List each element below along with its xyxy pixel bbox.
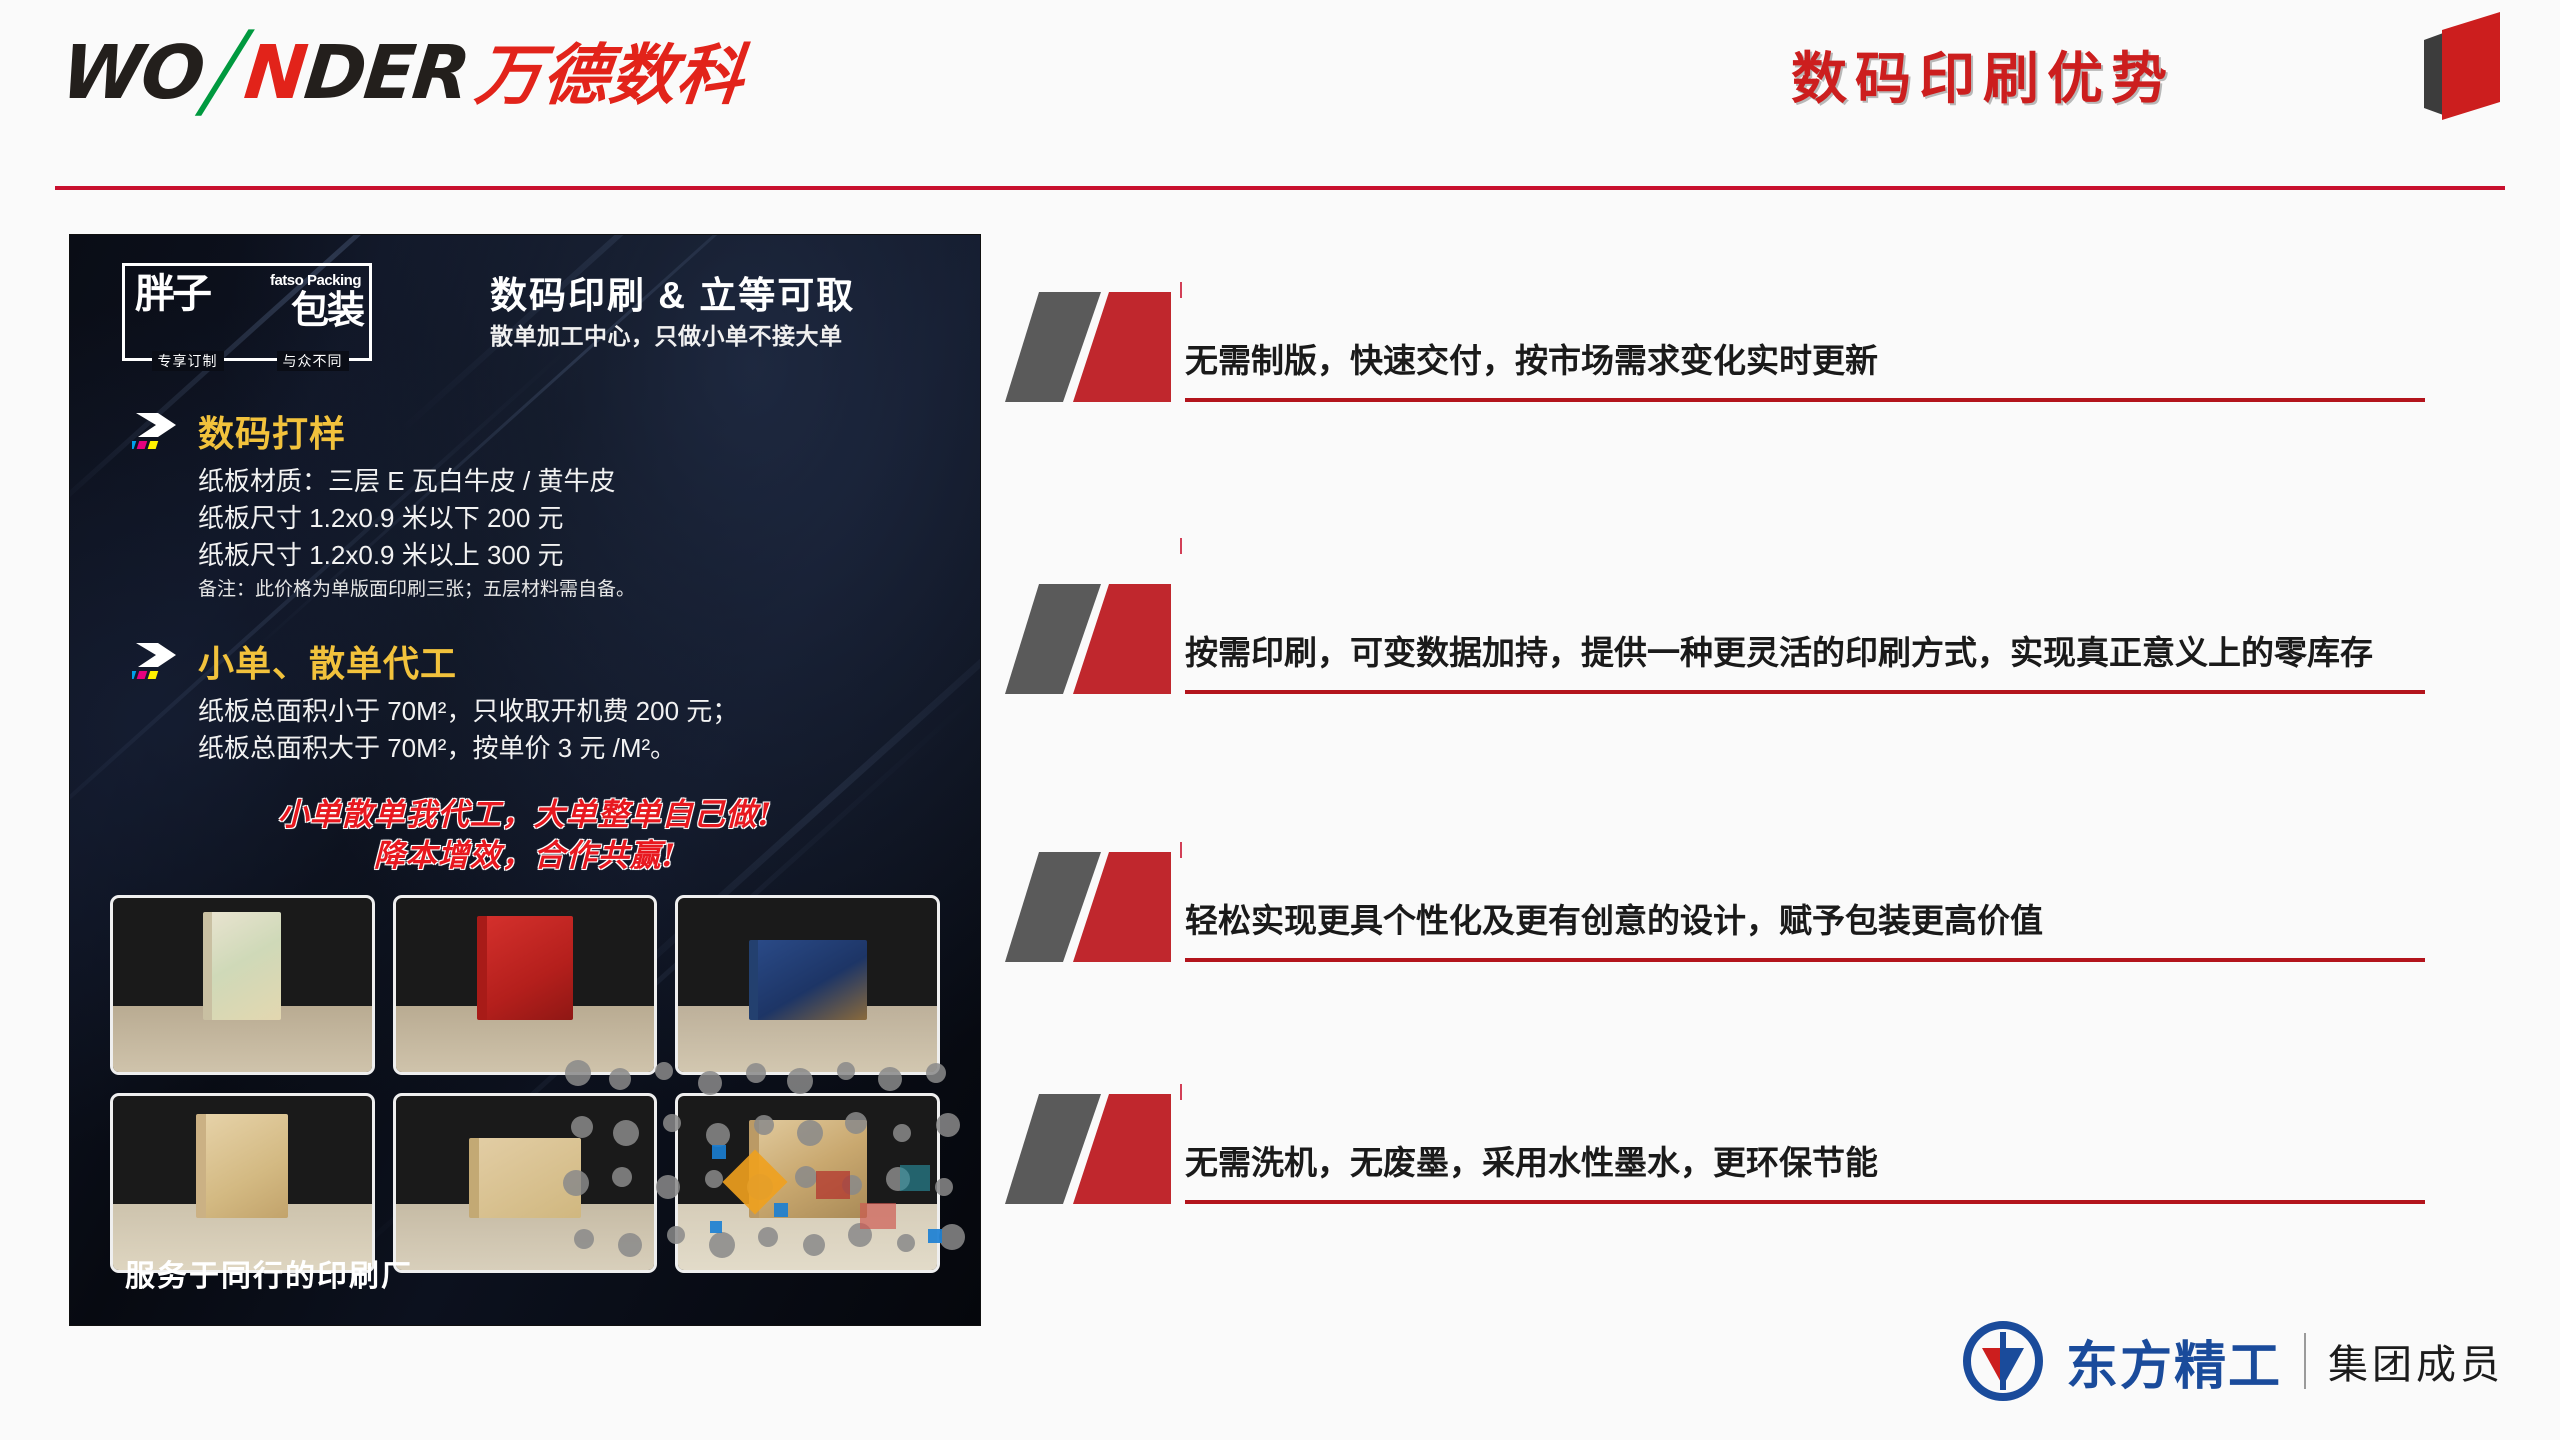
poster-section-line: 纸板尺寸 1.2x0.9 米以上 300 元	[198, 537, 635, 574]
advantage-underline	[1185, 958, 2425, 962]
chevron-arrow-icon	[132, 411, 184, 451]
group-member-logo: 东方精工 集团成员	[1962, 1320, 2504, 1402]
poster-section-line: 纸板总面积大于 70M²，按单价 3 元 /M²。	[198, 730, 738, 767]
bullet-tick	[1180, 538, 1182, 554]
poster-footer-text: 服务于同行的印刷厂	[125, 1251, 413, 1295]
poster-section-small-orders: 小单、散单代工 纸板总面积小于 70M²，只收取开机费 200 元； 纸板总面积…	[132, 635, 738, 767]
advantage-item-no-plate-making: 无需制版，快速交付，按市场需求变化实时更新	[1005, 288, 2430, 408]
advantage-item-eco-friendly: 无需洗机，无废墨，采用水性墨水，更环保节能	[1005, 1090, 2430, 1210]
poster-section-line: 纸板总面积小于 70M²，只收取开机费 200 元；	[198, 693, 738, 730]
advantage-underline	[1185, 398, 2425, 402]
poster-slogan-line: 降本增效，合作共赢!	[70, 836, 980, 877]
brand-logo-cn: 万德数科	[473, 42, 748, 108]
page-title: 数码印刷优势	[1791, 34, 2175, 115]
product-photo-kraft-handle-box	[110, 1093, 375, 1273]
poster-section-body: 纸板材质：三层 E 瓦白牛皮 / 黄牛皮 纸板尺寸 1.2x0.9 米以下 20…	[198, 463, 635, 603]
group-member-label: 集团成员	[2328, 1332, 2504, 1390]
fatso-logo-cn-secondary: 包装	[291, 292, 363, 330]
poster-section-digital-proofing: 数码打样 纸板材质：三层 E 瓦白牛皮 / 黄牛皮 纸板尺寸 1.2x0.9 米…	[132, 405, 635, 603]
header-divider	[55, 186, 2505, 190]
poster-section-line: 纸板材质：三层 E 瓦白牛皮 / 黄牛皮	[198, 463, 635, 500]
product-photo-red-meat-gift-box	[393, 895, 658, 1075]
advantage-text: 无需洗机，无废墨，采用水性墨水，更环保节能	[1185, 1139, 2430, 1188]
product-photo-blue-beef-carton	[675, 895, 940, 1075]
slide-root: WO╱NDER 万德数科 数码印刷优势 胖子 fatso Packing 包装 …	[0, 0, 2560, 1440]
fatso-logo-taglines: 专享订制 与众不同	[125, 351, 375, 371]
advantage-item-on-demand-printing: 按需印刷，可变数据加持，提供一种更灵活的印刷方式，实现真正意义上的零库存	[1005, 520, 2430, 700]
poster-section-header: 数码打样	[132, 405, 635, 457]
poster-section-title: 数码打样	[198, 405, 346, 457]
chevron-arrow-icon	[132, 641, 184, 681]
product-photo-honey-gift-box	[110, 895, 375, 1075]
poster-section-header: 小单、散单代工	[132, 635, 738, 687]
poster-section-note: 备注：此价格为单版面印刷三张；五层材料需自备。	[198, 577, 635, 604]
poster-section-body: 纸板总面积小于 70M²，只收取开机费 200 元； 纸板总面积大于 70M²，…	[198, 693, 738, 767]
poster-subtitle: 散单加工中心，只做小单不接大单	[490, 317, 843, 351]
book-bookmark-icon	[2412, 4, 2512, 124]
group-company-name: 东方精工	[2066, 1324, 2282, 1399]
fatso-logo-en: fatso Packing	[270, 272, 361, 289]
poster-section-line: 纸板尺寸 1.2x0.9 米以下 200 元	[198, 500, 635, 537]
poster-title: 数码印刷 & 立等可取	[490, 265, 855, 319]
poster-slogan: 小单散单我代工，大单整单自己做! 降本增效，合作共赢!	[70, 795, 980, 877]
poster-slogan-line: 小单散单我代工，大单整单自己做!	[70, 795, 980, 836]
fatso-logo-cn-primary: 胖子	[135, 274, 209, 314]
fatso-packing-logo: 胖子 fatso Packing 包装 专享订制 与众不同	[122, 263, 372, 361]
fatso-tagline-right: 与众不同	[277, 351, 349, 371]
brand-logo-wo: WO	[57, 30, 207, 116]
brand-logo-latin: WO╱NDER	[58, 38, 471, 108]
advantage-text: 无需制版，快速交付，按市场需求变化实时更新	[1185, 337, 2430, 386]
promo-poster-image: 胖子 fatso Packing 包装 专享订制 与众不同 数码印刷 & 立等可…	[70, 235, 980, 1325]
halftone-dots-decoration	[560, 1053, 980, 1293]
dongfang-circle-logo-icon	[1962, 1320, 2044, 1402]
poster-section-title: 小单、散单代工	[198, 635, 457, 687]
advantage-text: 按需印刷，可变数据加持，提供一种更灵活的印刷方式，实现真正意义上的零库存	[1185, 629, 2430, 678]
brand-logo-n-red: N	[241, 30, 310, 116]
advantage-underline	[1185, 1200, 2425, 1204]
poster-header: 胖子 fatso Packing 包装 专享订制 与众不同 数码印刷 & 立等可…	[70, 235, 980, 385]
double-chevron-marker-icon	[1005, 290, 1205, 408]
double-chevron-marker-icon	[1005, 582, 1205, 700]
double-chevron-marker-icon	[1005, 1092, 1205, 1210]
fatso-tagline-left: 专享订制	[152, 351, 224, 371]
brand-logo: WO╱NDER 万德数科	[62, 38, 744, 108]
logo-divider	[2304, 1333, 2306, 1389]
advantage-underline	[1185, 690, 2425, 694]
brand-logo-der: DER	[301, 30, 473, 116]
advantage-item-personalized-design: 轻松实现更具个性化及更有创意的设计，赋予包装更高价值	[1005, 848, 2430, 968]
double-chevron-marker-icon	[1005, 850, 1205, 968]
advantage-text: 轻松实现更具个性化及更有创意的设计，赋予包装更高价值	[1185, 897, 2430, 946]
